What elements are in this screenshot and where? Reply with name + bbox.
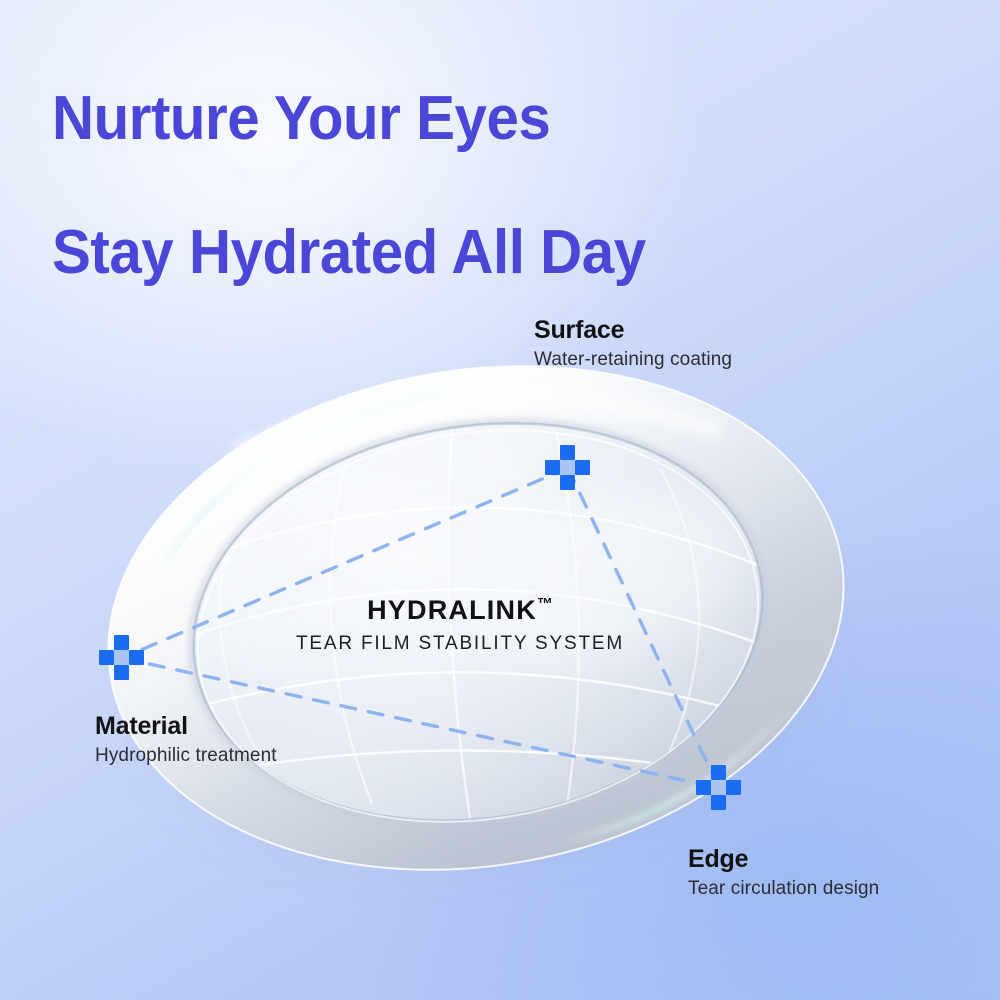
headline-line-2: Stay Hydrated All Day <box>52 218 646 287</box>
marker-arm-bottom <box>711 795 726 810</box>
marker-arm-right <box>726 780 741 795</box>
background-glow-bottom-right <box>340 500 1000 1000</box>
callout-edge-subtitle: Tear circulation design <box>688 877 879 902</box>
brand-name-row: HYDRALINK™ <box>270 596 650 626</box>
callout-surface-subtitle: Water-retaining coating <box>534 348 732 373</box>
marker-arm-top <box>114 635 129 650</box>
callout-material-subtitle: Hydrophilic treatment <box>95 744 277 769</box>
marker-center <box>711 780 726 795</box>
marker-arm-bottom <box>114 665 129 680</box>
callout-edge-title: Edge <box>688 845 879 874</box>
marker-edge[interactable] <box>696 765 742 811</box>
marker-arm-left <box>696 780 711 795</box>
callout-edge: Edge Tear circulation design <box>688 845 879 901</box>
marker-arm-top <box>560 445 575 460</box>
marker-arm-top <box>711 765 726 780</box>
callout-surface-title: Surface <box>534 316 732 345</box>
marker-arm-right <box>575 460 590 475</box>
brand-name: HYDRALINK <box>367 595 537 625</box>
callout-material: Material Hydrophilic treatment <box>95 712 277 768</box>
marker-arm-left <box>99 650 114 665</box>
marker-center <box>560 460 575 475</box>
marker-arm-bottom <box>560 475 575 490</box>
trademark-symbol: ™ <box>537 596 553 613</box>
marker-arm-left <box>545 460 560 475</box>
headline-line-1: Nurture Your Eyes <box>52 84 550 153</box>
page-title: Nurture Your Eyes Stay Hydrated All Day <box>52 86 646 287</box>
marker-material[interactable] <box>99 635 145 681</box>
callout-material-title: Material <box>95 712 277 741</box>
brand-tagline: TEAR FILM STABILITY SYSTEM <box>270 633 650 656</box>
marker-arm-right <box>129 650 144 665</box>
marker-surface[interactable] <box>545 445 591 491</box>
marker-center <box>114 650 129 665</box>
brand-block: HYDRALINK™ TEAR FILM STABILITY SYSTEM <box>270 596 650 655</box>
callout-surface: Surface Water-retaining coating <box>534 316 732 372</box>
